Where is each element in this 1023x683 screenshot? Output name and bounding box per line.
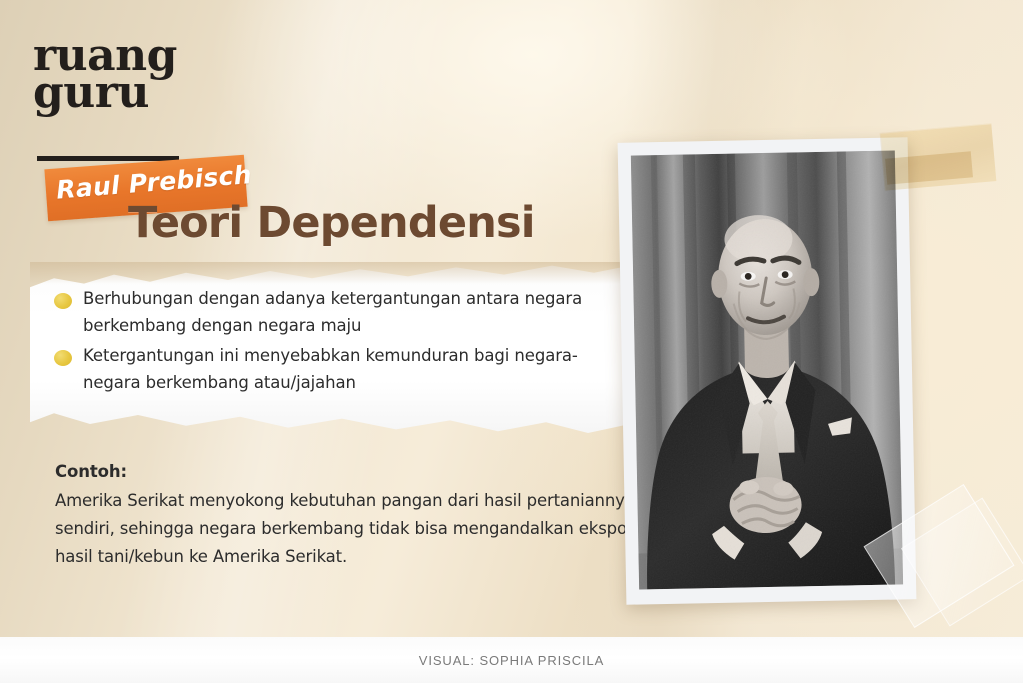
key-points-list: Berhubungan dengan adanya ketergantungan… [54, 286, 614, 401]
portrait-image [631, 151, 903, 590]
portrait-photo [618, 137, 917, 604]
example-body: Amerika Serikat menyokong kebutuhan pang… [55, 487, 635, 571]
visual-credit: VISUAL: SOPHIA PRISCILA [419, 653, 604, 668]
list-item-label: Ketergantungan ini menyebabkan kemundura… [83, 343, 614, 396]
list-item: Ketergantungan ini menyebabkan kemundura… [54, 343, 614, 396]
bullet-dot-icon [54, 293, 72, 309]
footer-bar: VISUAL: SOPHIA PRISCILA [0, 637, 1023, 683]
photo-frame [618, 137, 917, 604]
slide-canvas: ruang guru Raul Prebisch Teori Dependens… [0, 0, 1023, 683]
list-item: Berhubungan dengan adanya ketergantungan… [54, 286, 614, 339]
list-item-label: Berhubungan dengan adanya ketergantungan… [83, 286, 614, 339]
example-block: Contoh: Amerika Serikat menyokong kebutu… [55, 462, 635, 571]
page-title: Teori Dependensi [128, 198, 535, 248]
logo-line-2: guru [33, 75, 177, 112]
ruangguru-logo: ruang guru [33, 38, 177, 112]
example-label: Contoh: [55, 462, 635, 481]
bullet-dot-icon [54, 350, 72, 366]
